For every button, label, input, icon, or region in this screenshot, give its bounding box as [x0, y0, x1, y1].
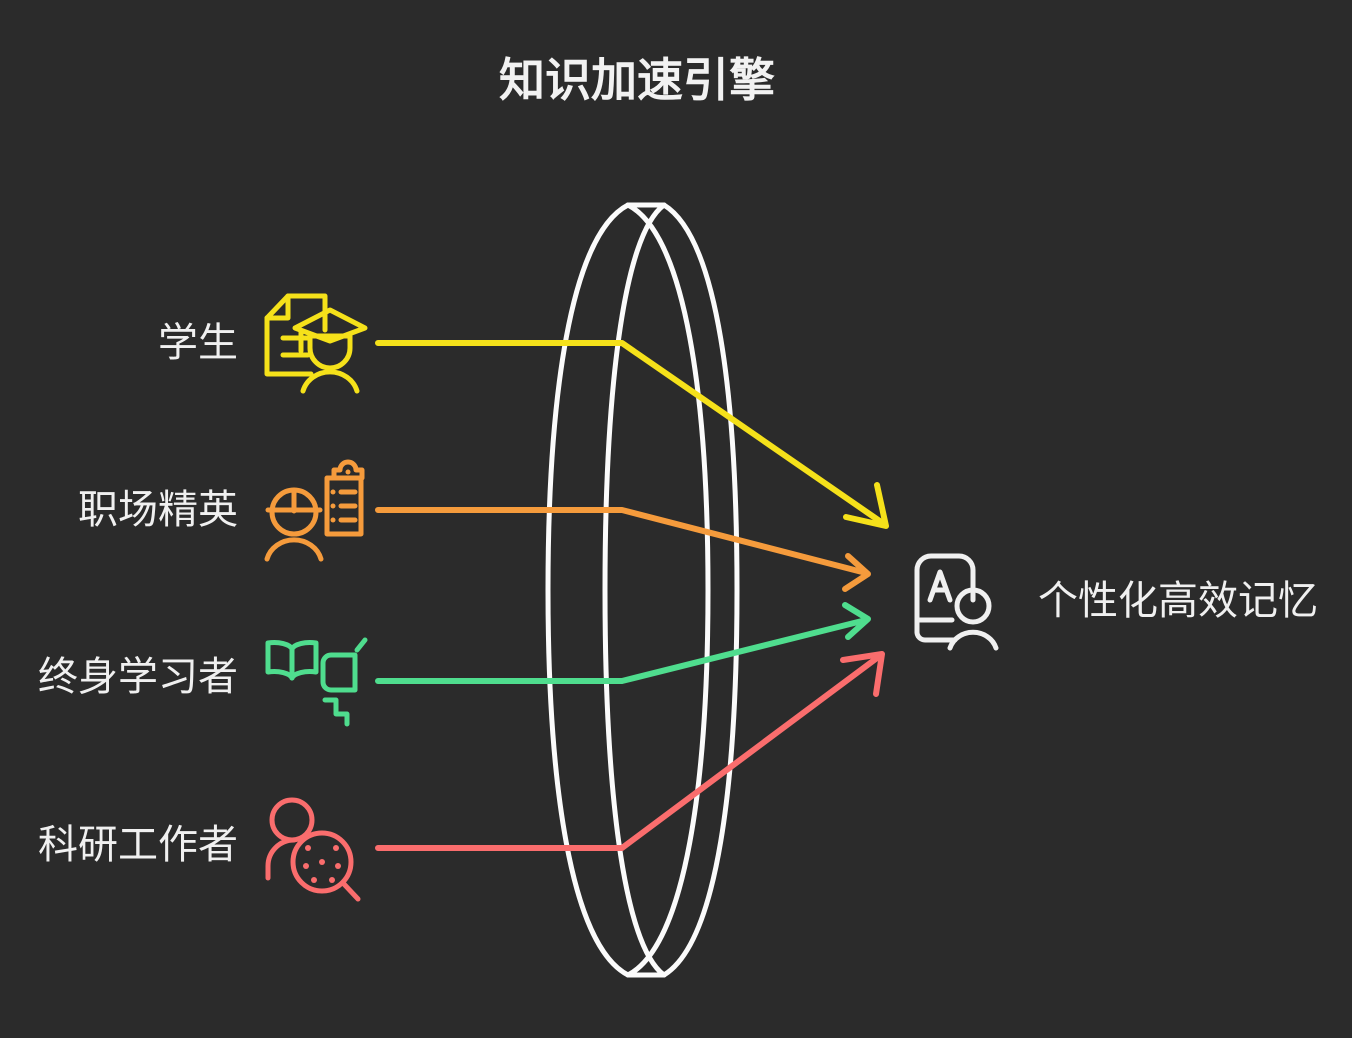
source-label-student: 学生	[158, 321, 238, 365]
lens-inner-front-arc	[605, 205, 664, 975]
flashcard-person-icon	[917, 556, 996, 648]
graduate-document-icon	[267, 296, 365, 391]
ray-professional-line	[378, 510, 866, 573]
target-label: 个性化高效记忆	[1038, 579, 1318, 623]
page-title: 知识加速引擎	[499, 54, 775, 106]
open-book-idea-icon	[268, 640, 365, 724]
source-label-lifelong-learner: 终身学习者	[38, 655, 238, 699]
lens-outer-back-arc	[628, 205, 708, 975]
researcher-magnifier-icon	[268, 800, 358, 899]
hardhat-clipboard-icon	[267, 462, 362, 559]
source-label-professional: 职场精英	[78, 488, 238, 532]
source-label-researcher: 科研工作者	[38, 823, 238, 867]
ray-professional	[378, 510, 868, 589]
lens-group	[548, 205, 737, 975]
ray-lifelong-learner-line	[378, 620, 866, 681]
diagram-canvas: 知识加速引擎	[0, 0, 1352, 1038]
knowledge-accelerator-diagram: 知识加速引擎	[0, 0, 1352, 1038]
lens-inner-back-arc	[664, 205, 737, 975]
lens-outer-front-arc	[548, 205, 628, 975]
ray-student-line	[378, 343, 884, 524]
ray-lifelong-learner	[378, 605, 868, 681]
ray-student	[378, 343, 886, 526]
